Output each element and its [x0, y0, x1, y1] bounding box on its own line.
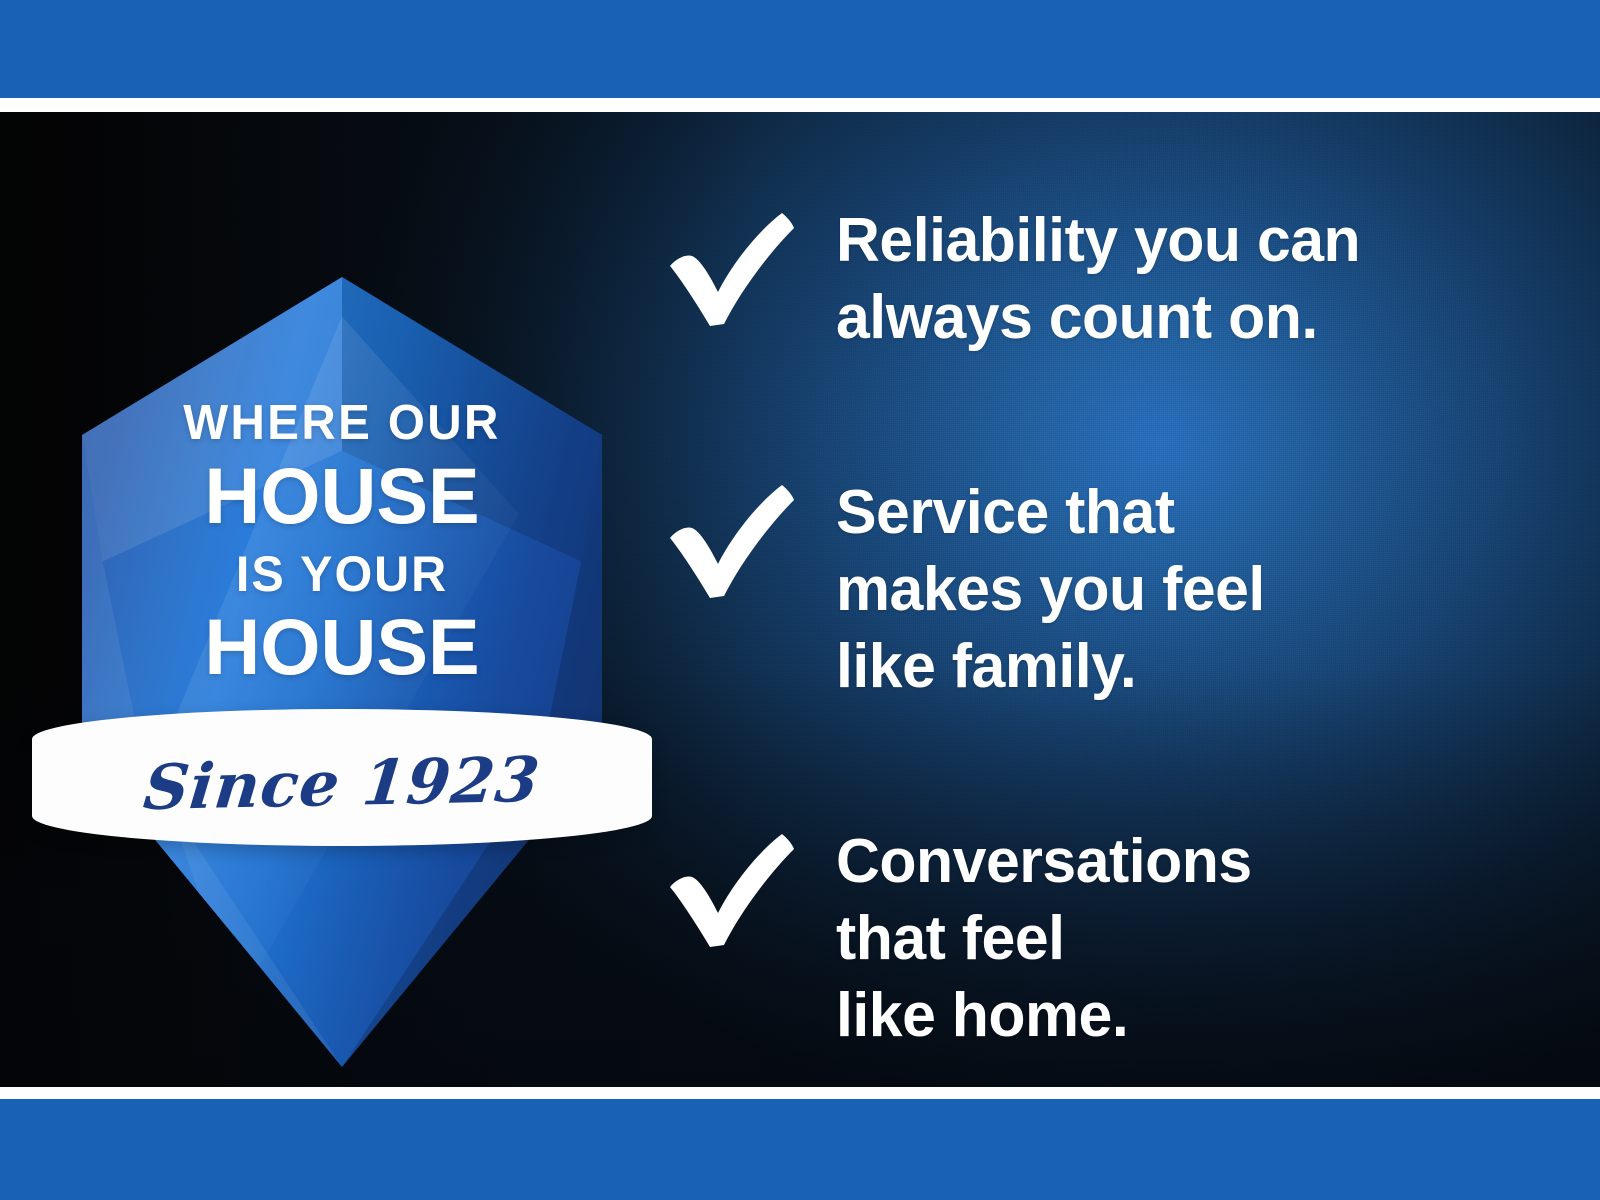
shield-headline-line-2: HOUSE — [87, 456, 597, 535]
since-ribbon-label: Since 1923 — [28, 741, 657, 827]
benefit-item-2: Service that makes you feel like family. — [660, 474, 1560, 705]
checkmark-icon — [666, 210, 796, 330]
checkmark-icon — [666, 482, 796, 602]
bottom-brand-bar — [0, 1099, 1600, 1200]
shield-headline-line-4: HOUSE — [87, 607, 597, 686]
benefit-text-2: Service that makes you feel like family. — [836, 474, 1546, 705]
checkmark-icon — [666, 831, 796, 951]
poster-canvas: WHERE OUR HOUSE IS YOUR HOUSE Since 1923… — [0, 112, 1600, 1087]
shield-headline: WHERE OUR HOUSE IS YOUR HOUSE — [82, 399, 602, 686]
benefit-item-3: Conversations that feel like home. — [660, 823, 1560, 1054]
shield-badge: WHERE OUR HOUSE IS YOUR HOUSE Since 1923 — [62, 277, 622, 1067]
promo-poster: WHERE OUR HOUSE IS YOUR HOUSE Since 1923… — [0, 0, 1600, 1200]
benefit-item-1: Reliability you can always count on. — [660, 202, 1560, 356]
shield-shape: WHERE OUR HOUSE IS YOUR HOUSE Since 1923 — [82, 277, 602, 1067]
since-ribbon: Since 1923 — [32, 709, 652, 846]
top-brand-bar — [0, 0, 1600, 98]
benefits-list: Reliability you can always count on. Ser… — [660, 202, 1560, 1054]
shield-headline-line-1: WHERE OUR — [90, 399, 594, 448]
benefit-text-3: Conversations that feel like home. — [836, 823, 1546, 1054]
benefit-text-1: Reliability you can always count on. — [836, 202, 1546, 356]
shield-headline-line-3: IS YOUR — [90, 549, 594, 599]
